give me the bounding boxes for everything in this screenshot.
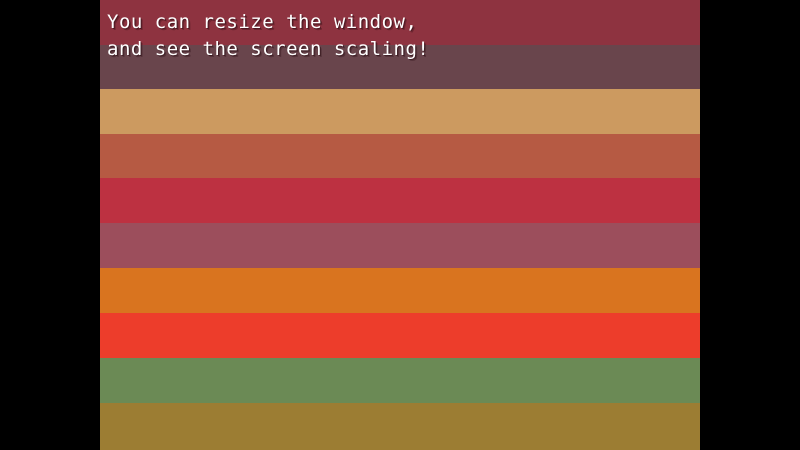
band-2 bbox=[100, 45, 700, 89]
band-7 bbox=[100, 268, 700, 313]
color-band-stack bbox=[100, 0, 700, 450]
band-3 bbox=[100, 89, 700, 134]
letterbox-left bbox=[0, 0, 100, 450]
game-viewport[interactable]: You can resize the window, and see the s… bbox=[100, 0, 700, 450]
band-5 bbox=[100, 178, 700, 223]
band-1 bbox=[100, 0, 700, 45]
band-9 bbox=[100, 358, 700, 403]
app-window: You can resize the window, and see the s… bbox=[0, 0, 800, 450]
band-6 bbox=[100, 223, 700, 268]
band-8 bbox=[100, 313, 700, 358]
band-4 bbox=[100, 134, 700, 178]
band-10 bbox=[100, 403, 700, 450]
letterbox-right bbox=[700, 0, 800, 450]
